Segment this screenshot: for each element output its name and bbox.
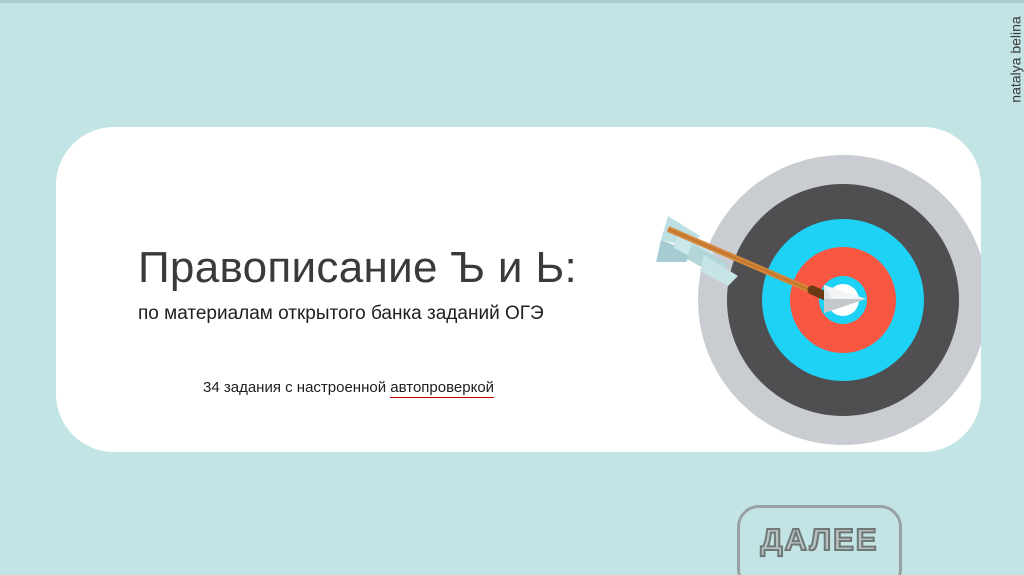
page-subtitle: по материалам открытого банка заданий ОГ…: [138, 301, 544, 327]
task-count-note: 34 задания с настроенной автопроверкой: [203, 377, 494, 399]
target-bullseye-center: [827, 284, 859, 316]
content-card: Правописание Ъ и Ь: по материалам открыт…: [56, 127, 981, 452]
slide-canvas: Правописание Ъ и Ь: по материалам открыт…: [0, 0, 1024, 575]
page-title: Правописание Ъ и Ь:: [138, 242, 577, 294]
author-credit-label: natalya belina: [1007, 16, 1024, 102]
next-button[interactable]: ДАЛЕЕ: [737, 505, 902, 575]
top-edge-strip: [0, 0, 1024, 3]
next-button-label: ДАЛЕЕ: [761, 522, 879, 558]
target-bullseye-graphic: [698, 155, 981, 445]
task-count-note-prefix: 34 задания с настроенной: [203, 379, 390, 396]
autocheck-link[interactable]: автопроверкой: [390, 379, 494, 398]
